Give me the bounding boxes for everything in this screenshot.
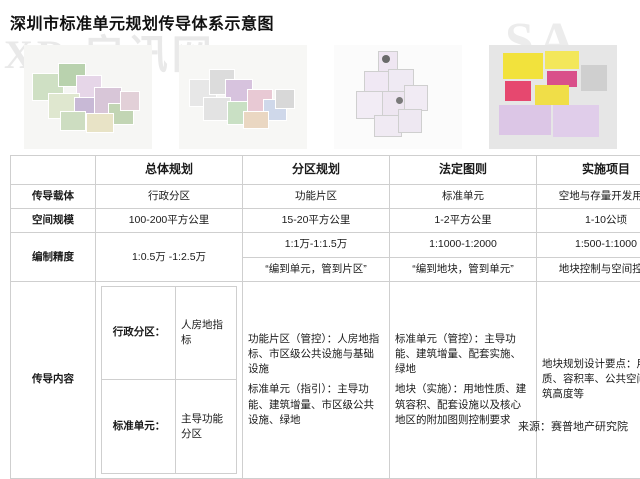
cell-precision-statutory: 1:1000-1:2000: [390, 233, 537, 257]
cell-carrier-overall: 行政分区: [96, 185, 243, 209]
row-header-conduction-carrier: 传导载体: [11, 185, 96, 209]
cell-carrier-district: 功能片区: [243, 185, 390, 209]
column-header-overall-plan: 总体规划: [96, 156, 243, 185]
table-header-row: 总体规划 分区规划 法定图则 实施项目: [11, 156, 640, 185]
cell-content-statutory: 标准单元（管控）：主导功能、建筑增量、配套实施、绿地 地块（实施）：用地性质、建…: [390, 281, 537, 478]
cell-content-district: 功能片区（管控）：人房地指标、市区级公共设施与基础设施 标准单元（指引）：主导功…: [243, 281, 390, 478]
content-overall-text-2: 主导功能分区: [176, 379, 237, 473]
row-header-conduction-content: 传导内容: [11, 281, 96, 478]
functional-area-map: [179, 45, 307, 149]
implementation-project-map: [489, 45, 617, 149]
list-item: 标准单元： 主导功能分区: [102, 379, 237, 473]
content-statutory-item-2: 地块（实施）：: [395, 383, 463, 395]
row-header-compilation-precision: 编制精度: [11, 233, 96, 281]
table-row: 空间规模 100-200平方公里 15-20平方公里 1-2平方公里 1-10公…: [11, 209, 640, 233]
standard-unit-map: [334, 45, 462, 149]
source-note: 来源：赛普地产研究院: [518, 418, 628, 434]
content-overall-label-1: 行政分区：: [102, 286, 176, 379]
cell-scale-project: 1-10公顷: [537, 209, 640, 233]
content-district-item-1: 功能片区（管控）：: [248, 333, 337, 345]
thumbnail-standard-unit: [320, 42, 475, 152]
administrative-district-map: [24, 45, 152, 149]
cell-carrier-statutory: 标准单元: [390, 185, 537, 209]
cell-precision-project: 1:500-1:1000: [537, 233, 640, 257]
cell-precision-district: 1:1万-1:1.5万: [243, 233, 390, 257]
cell-content-project: 地块规划设计要点：用地性质、容积率、公共空间、建筑高度等: [537, 281, 640, 478]
thumbnail-strip: [10, 42, 630, 152]
page-title: 深圳市标准单元规划传导体系示意图: [10, 10, 274, 34]
cell-scale-statutory: 1-2平方公里: [390, 209, 537, 233]
thumbnail-functional-area: [165, 42, 320, 152]
column-header-implementation-project: 实施项目: [537, 156, 640, 185]
cell-precision-overall: 1:0.5万 -1:2.5万: [96, 233, 243, 281]
content-district-item-2: 标准单元（指引）：: [248, 383, 337, 395]
cell-slogan-district: “编到单元，管到片区”: [243, 257, 390, 281]
content-overall-label-2: 标准单元：: [102, 379, 176, 473]
cell-carrier-project: 空地与存量开发用地: [537, 185, 640, 209]
thumbnail-implementation-project: [475, 42, 630, 152]
table-corner-cell: [11, 156, 96, 185]
table-row: 传导载体 行政分区 功能片区 标准单元 空地与存量开发用地: [11, 185, 640, 209]
cell-slogan-statutory: “编到地块，管到单元”: [390, 257, 537, 281]
content-statutory-item-1: 标准单元（管控）：: [395, 333, 484, 345]
row-header-spatial-scale: 空间规模: [11, 209, 96, 233]
table-row: 编制精度 1:0.5万 -1:2.5万 1:1万-1:1.5万 1:1000-1…: [11, 233, 640, 257]
column-header-district-plan: 分区规划: [243, 156, 390, 185]
list-item: 行政分区： 人房地指标: [102, 286, 237, 379]
column-header-statutory-map: 法定图则: [390, 156, 537, 185]
thumbnail-administrative-district: [10, 42, 165, 152]
table-row-conduction-content: 传导内容 行政分区： 人房地指标 标准单元： 主导功能分区 功能片区（管控）：人…: [11, 281, 640, 478]
content-overall-text-1: 人房地指标: [176, 286, 237, 379]
cell-scale-district: 15-20平方公里: [243, 209, 390, 233]
cell-slogan-project: 地块控制与空间控制: [537, 257, 640, 281]
cell-content-overall: 行政分区： 人房地指标 标准单元： 主导功能分区: [96, 281, 243, 478]
cell-scale-overall: 100-200平方公里: [96, 209, 243, 233]
